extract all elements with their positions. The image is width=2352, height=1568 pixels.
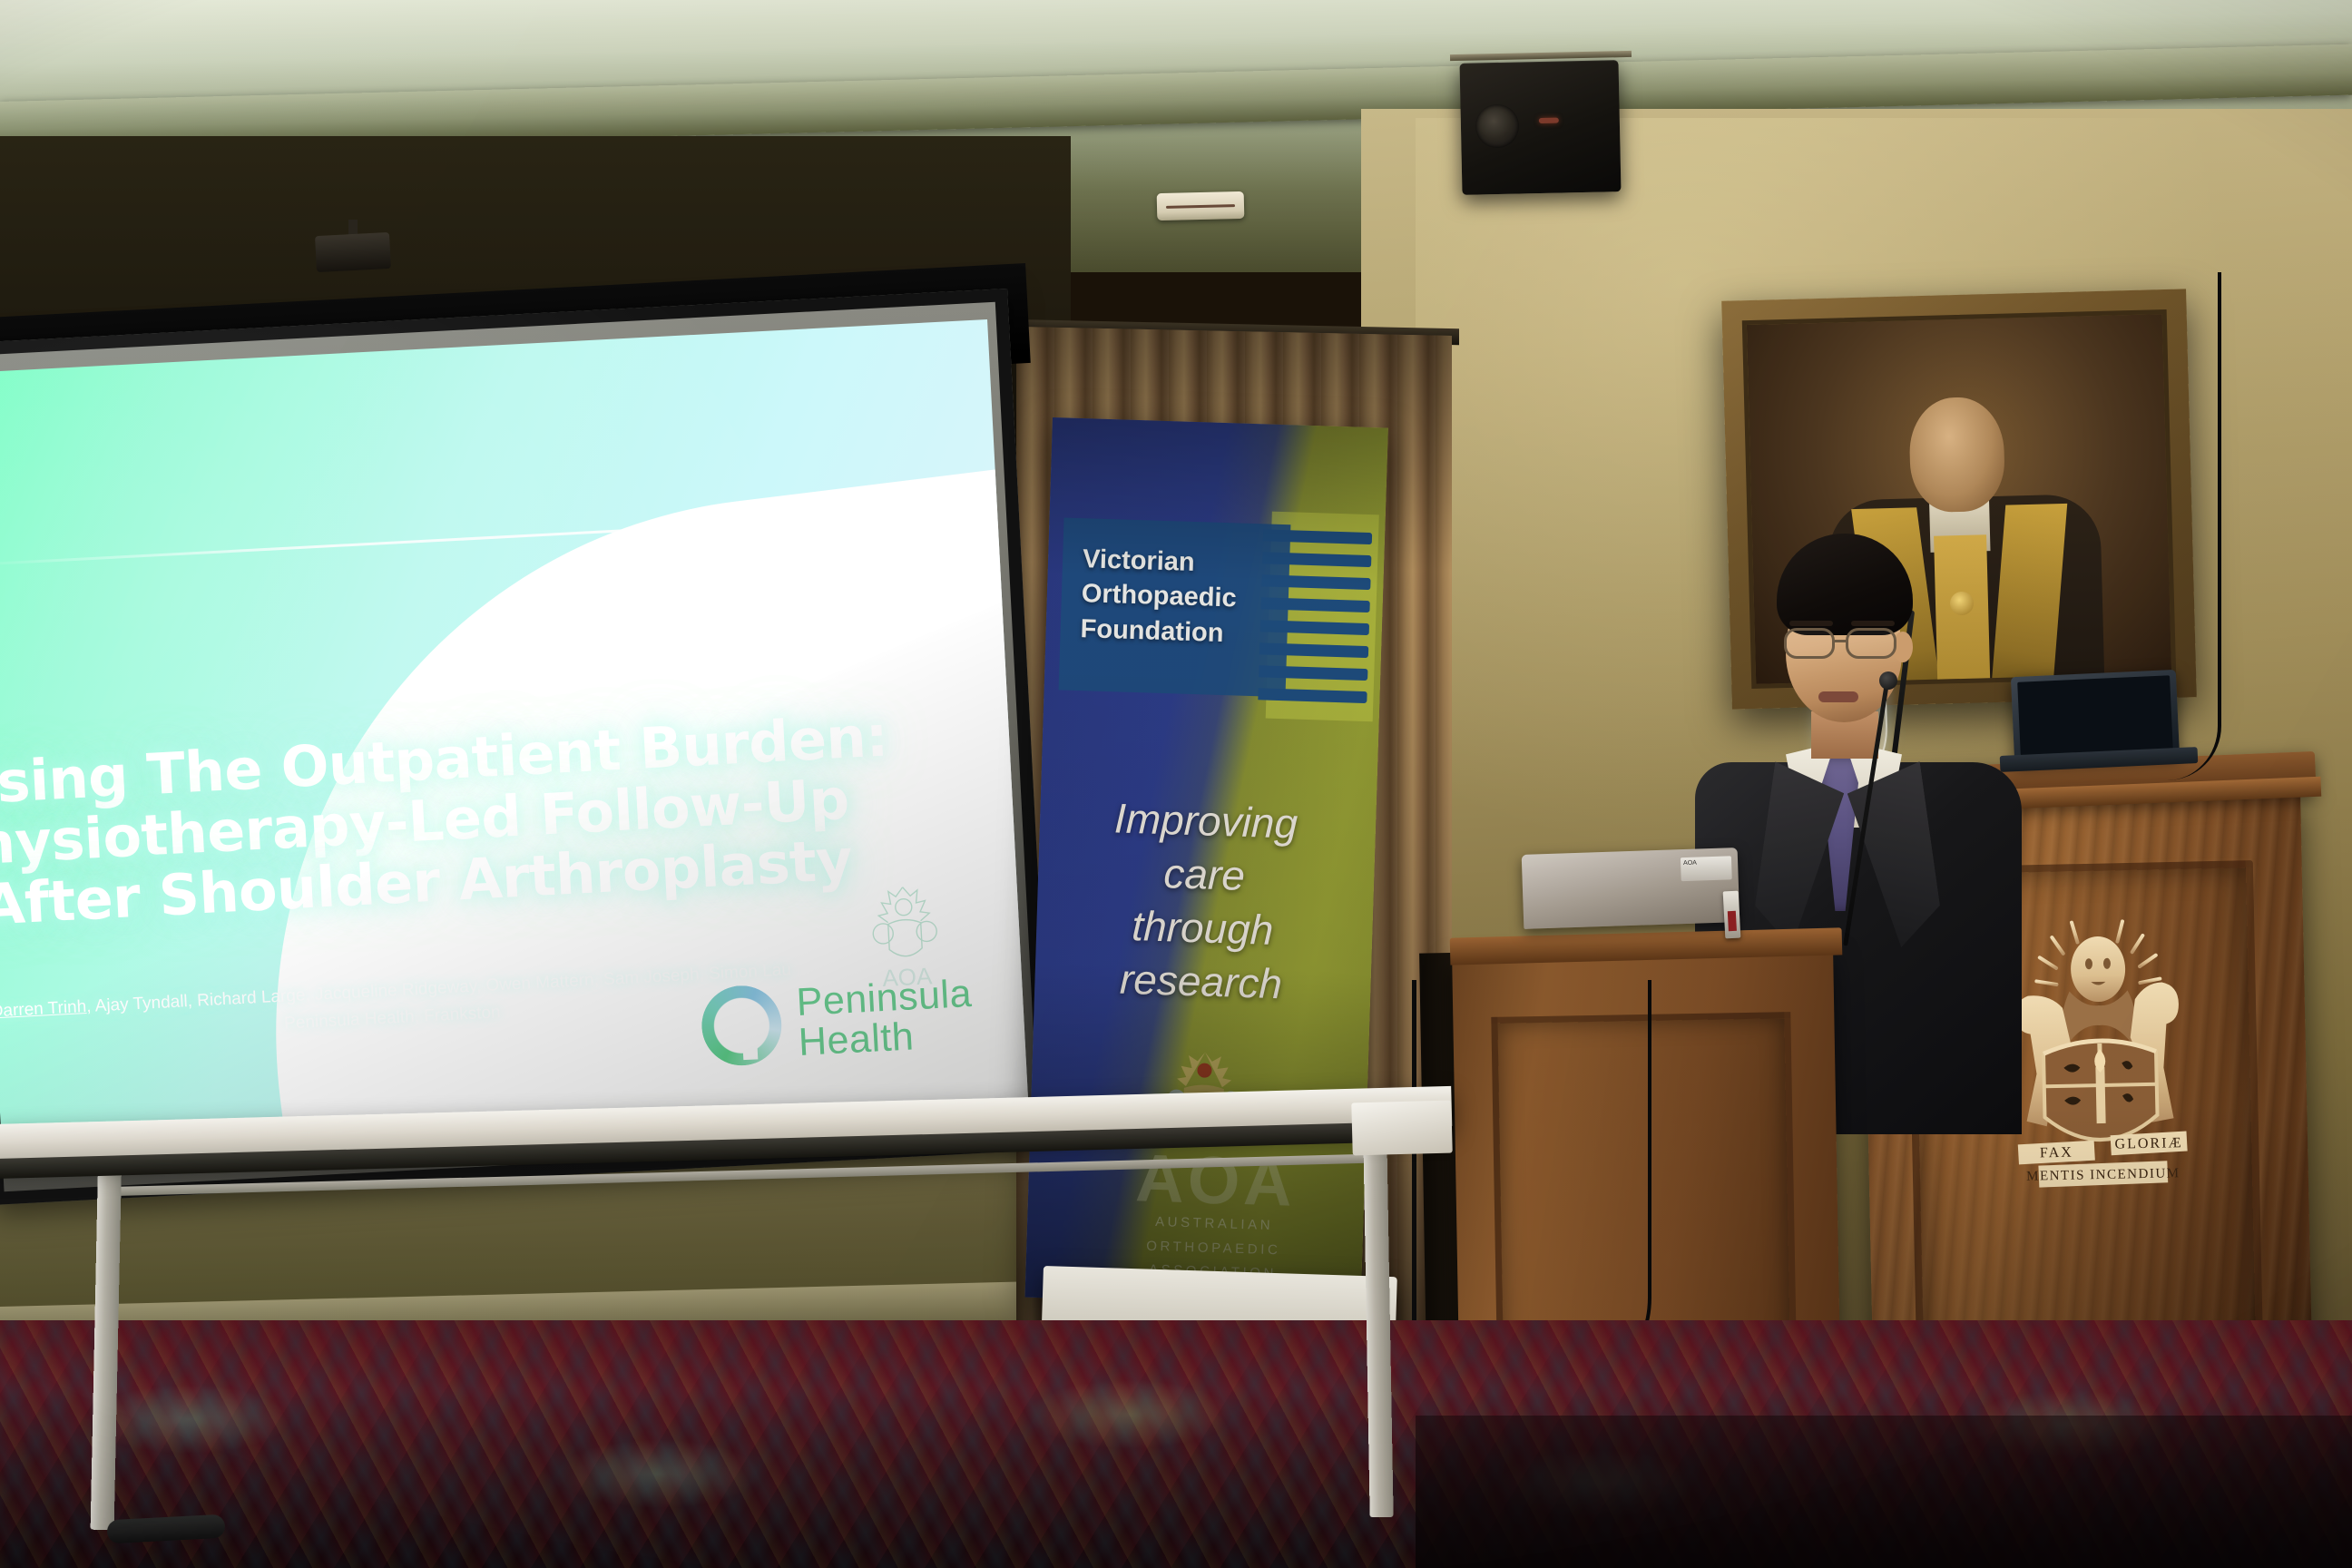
banner-org-line-2: Orthopaedic [1081, 576, 1281, 617]
glasses-lens-left [1784, 628, 1835, 659]
speaker-led-icon [1539, 118, 1559, 123]
presenter-laptop[interactable]: AOA [1522, 848, 1740, 929]
folding-table-end-cap [1351, 1101, 1452, 1156]
conference-presentation-photo: Easing The Outpatient Burden: Physiother… [0, 0, 2352, 1568]
glasses-lens-right [1846, 628, 1896, 659]
banner-slogan-line-2: care [1063, 844, 1346, 906]
usb-flash-drive [1723, 891, 1741, 939]
crest-motto-right: GLORIÆ [2114, 1135, 2182, 1152]
banner-slogan-line-1: Improving [1064, 790, 1347, 853]
banner-slogan: Improving care through research [1060, 790, 1347, 1013]
projector-icon [315, 232, 391, 272]
banner-org-name: Victorian Orthopaedic Foundation [1080, 542, 1282, 652]
victorian-orthopaedic-foundation-banner: Victorian Orthopaedic Foundation Improvi… [1025, 417, 1388, 1308]
presenter-brow-right [1851, 621, 1895, 626]
gooseneck-microphone-head-icon [1879, 671, 1897, 690]
presenter-mouth [1818, 691, 1858, 702]
banner-org-line-3: Foundation [1080, 612, 1280, 652]
crest-motto-left: FAX [2040, 1145, 2073, 1161]
floor-shadow-right [1416, 1416, 2352, 1568]
screen-black-border [0, 289, 1053, 1205]
banner-slogan-line-3: through [1062, 897, 1345, 959]
pa-speaker-icon [1460, 60, 1622, 195]
laptop-sticker: AOA [1681, 856, 1732, 881]
presenter-brow-left [1789, 621, 1833, 626]
wall-fixture-plate [1157, 191, 1245, 220]
presenter-glasses-icon [1784, 628, 1913, 659]
portrait-head [1908, 397, 2005, 514]
banner-slogan-line-4: research [1060, 950, 1343, 1013]
speaker-cone-icon [1475, 103, 1519, 148]
cable-run-4 [2167, 272, 2221, 780]
